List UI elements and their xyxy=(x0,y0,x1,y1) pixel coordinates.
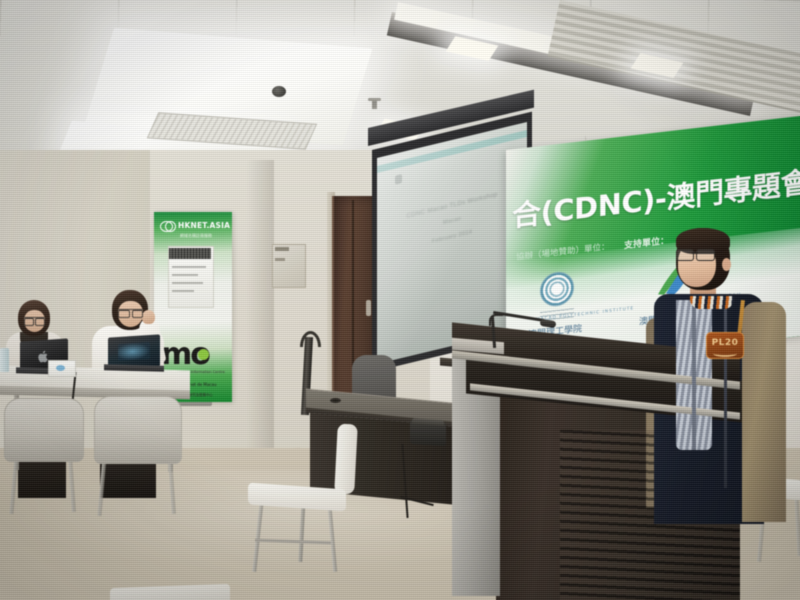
jacket-patch: PL20 xyxy=(706,332,744,359)
rollup-screenshot-titlebar xyxy=(169,248,211,259)
sprinkler-icon xyxy=(372,100,377,109)
chair[interactable] xyxy=(94,396,182,464)
glasses-bridge xyxy=(692,252,698,254)
speaker-shirt-placket xyxy=(692,300,696,450)
wall-corner-shadow xyxy=(246,160,274,450)
jacket-patch-text: PL20 xyxy=(707,338,743,348)
rollup-graphic-line xyxy=(172,282,203,284)
rollup-graphic-line xyxy=(172,290,194,292)
water-bottle[interactable] xyxy=(0,348,9,372)
wall-panel-marking xyxy=(275,247,289,251)
wall-panel-marking-2 xyxy=(275,258,285,261)
glasses-icon xyxy=(676,249,716,260)
laptop-center-screen xyxy=(118,342,150,361)
attendee-center-hand xyxy=(142,310,155,324)
rollup-graphic-line xyxy=(172,266,206,268)
rollup-graphic-line xyxy=(172,274,198,276)
smoke-detector-icon xyxy=(272,86,286,97)
mo-logo-dot-icon xyxy=(198,349,209,360)
desk-cable-grommet xyxy=(330,398,341,403)
photo-scene: CDNC Macao TLDs Workshop Macao February … xyxy=(0,0,800,600)
speaker-ear xyxy=(722,258,731,271)
banner-headline: 合(CDNC)-澳門專題會議 xyxy=(512,156,800,236)
speaker-right-sleeve xyxy=(742,302,786,522)
door-handle[interactable] xyxy=(366,300,371,316)
speaker-collar xyxy=(690,296,734,309)
rollup-header-text: HKNET.ASIA xyxy=(178,221,230,230)
chair[interactable] xyxy=(4,398,84,462)
glasses-icon xyxy=(24,317,45,324)
jacket-patch-arc xyxy=(713,350,737,357)
rollup-header-subtext: 網域名稱註冊服務 xyxy=(180,233,212,239)
tissue-box-logo-icon xyxy=(56,365,65,371)
hknet-logo-icon xyxy=(160,221,173,232)
glasses-icon xyxy=(118,309,143,316)
white-chair-backrest[interactable] xyxy=(334,424,358,495)
